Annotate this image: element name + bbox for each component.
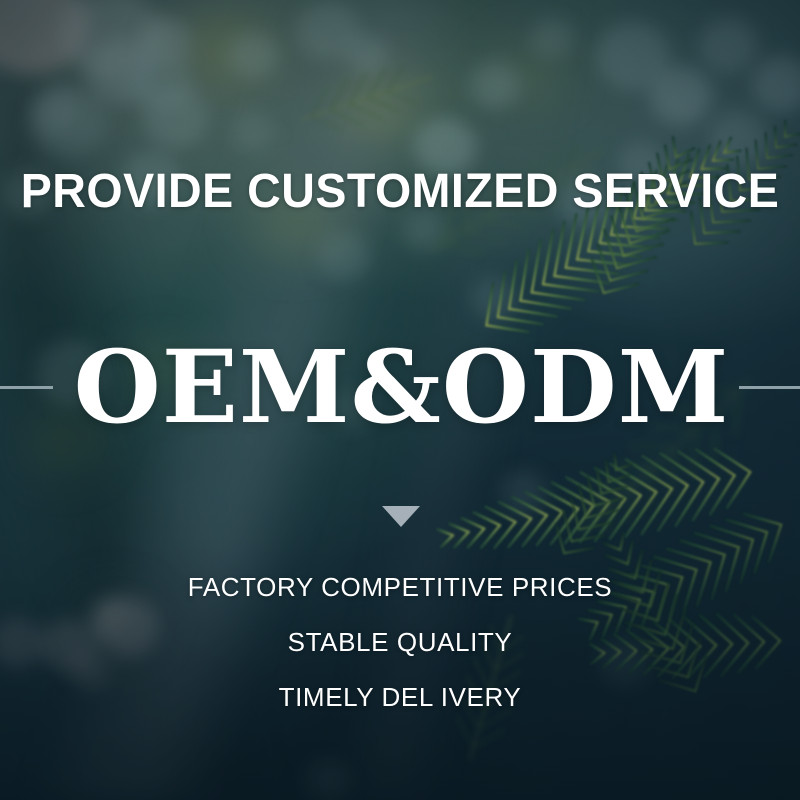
benefit-item: STABLE QUALITY <box>0 615 800 670</box>
bokeh-dot <box>346 34 388 74</box>
benefit-item: TIMELY DEL IVERY <box>0 670 800 725</box>
bokeh-dot <box>230 110 274 152</box>
benefits-list: FACTORY COMPETITIVE PRICES STABLE QUALIT… <box>0 560 800 725</box>
bokeh-dot <box>60 0 160 76</box>
bokeh-dot <box>142 86 208 148</box>
bokeh-dot <box>33 90 79 134</box>
bokeh-dot <box>140 18 194 68</box>
bokeh-dot <box>318 232 370 280</box>
bokeh-dot <box>296 2 360 60</box>
bokeh-dot <box>306 760 350 800</box>
bokeh-dot <box>530 18 574 58</box>
brand-title: OEM&ODM <box>74 337 730 437</box>
bokeh-dot <box>86 38 158 104</box>
bokeh-dot <box>142 18 182 56</box>
triangle-down-icon <box>382 506 420 527</box>
bokeh-dot <box>30 86 106 156</box>
benefit-item: FACTORY COMPETITIVE PRICES <box>0 560 800 615</box>
bokeh-dot <box>470 62 520 108</box>
bokeh-dot <box>470 276 516 320</box>
bokeh-dot <box>228 32 278 78</box>
divider-rule-right <box>739 386 800 389</box>
bokeh-dot <box>130 52 192 110</box>
bokeh-dot <box>596 22 670 90</box>
bokeh-dot <box>650 66 712 124</box>
bokeh-dot <box>710 110 768 166</box>
bokeh-dot <box>700 18 758 72</box>
promo-banner: PROVIDE CUSTOMIZED SERVICE OEM&ODM FACTO… <box>0 0 800 800</box>
page-title: PROVIDE CUSTOMIZED SERVICE <box>12 168 788 216</box>
bokeh-dot <box>500 470 546 514</box>
brand-row: OEM&ODM <box>0 336 800 438</box>
bokeh-dot <box>0 0 90 74</box>
divider-rule-left <box>0 386 53 389</box>
bokeh-dot <box>752 56 800 112</box>
